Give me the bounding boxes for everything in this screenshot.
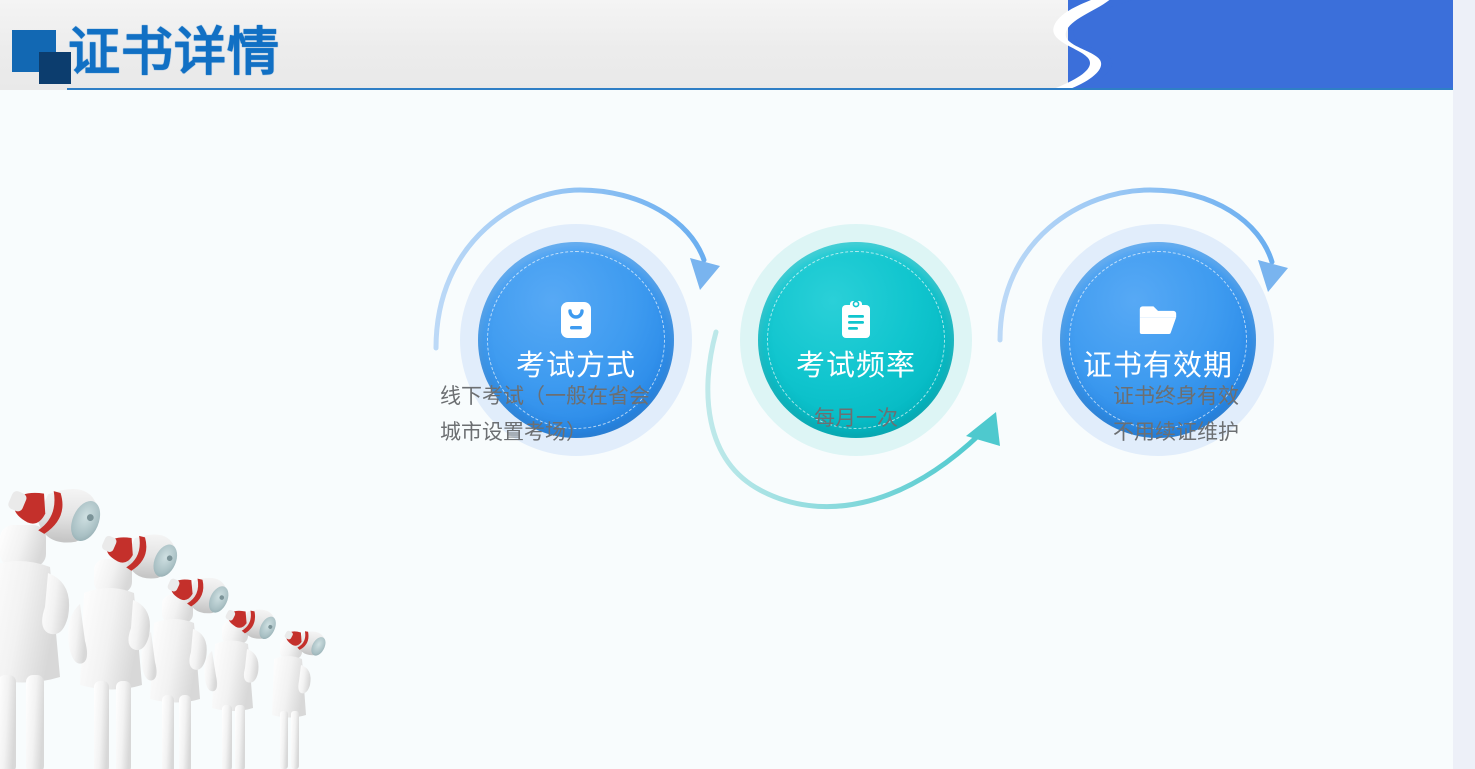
caption-certificate-validity: 证书终身有效 不用续证维护 bbox=[1058, 378, 1294, 450]
header-underline bbox=[67, 88, 1453, 90]
page-title-text: 证书详情 bbox=[68, 18, 280, 88]
ribbon-swoosh-icon bbox=[1040, 0, 1160, 90]
content-stage: 考试方式 bbox=[0, 90, 1453, 769]
slide-root: 证书详情 bbox=[0, 0, 1475, 769]
title-square-dark-icon bbox=[39, 52, 71, 84]
caption-exam-method: 线下考试（一般在省会 城市设置考场） bbox=[440, 378, 720, 450]
caption-exam-frequency: 每月一次 bbox=[756, 400, 956, 436]
crowd-figure bbox=[272, 619, 329, 769]
crowd-figure bbox=[204, 596, 280, 769]
page-edge-strip bbox=[1453, 0, 1475, 769]
megaphone-crowd-illustration bbox=[0, 443, 374, 769]
